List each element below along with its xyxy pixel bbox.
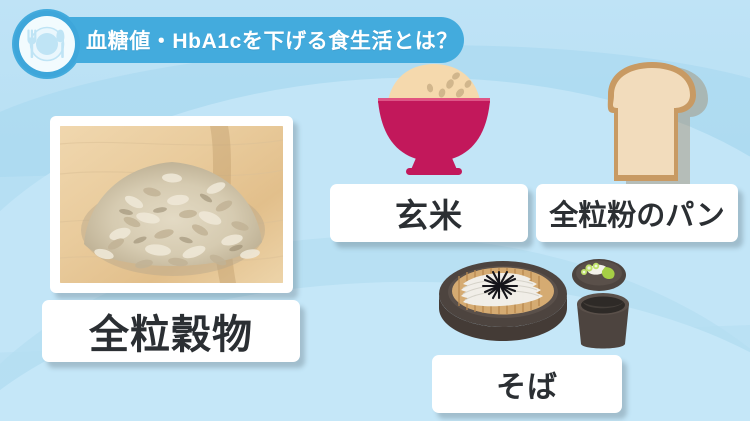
label-text: 全粒粉のパン (549, 192, 724, 234)
slide-canvas: 血糖値・HbA1cを下げる食生活とは？ (0, 0, 750, 421)
label-brown-rice: 玄米 (330, 184, 528, 242)
oats-photo (60, 126, 283, 283)
label-soba: そば (432, 355, 622, 413)
brown-rice-bowl-illustration (372, 62, 496, 186)
plate-fork-knife-icon (12, 9, 82, 79)
oats-photo-card (50, 116, 293, 293)
label-whole-grains: 全粒穀物 (42, 300, 300, 362)
page-title: 血糖値・HbA1cを下げる食生活とは？ (86, 17, 458, 63)
soba-noodles-illustration (437, 248, 642, 356)
label-text: 玄米 (395, 189, 463, 237)
label-whole-wheat-bread: 全粒粉のパン (536, 184, 738, 242)
label-text: 全粒穀物 (89, 302, 253, 360)
bread-slice-illustration (596, 55, 718, 189)
label-text: そば (496, 362, 558, 406)
